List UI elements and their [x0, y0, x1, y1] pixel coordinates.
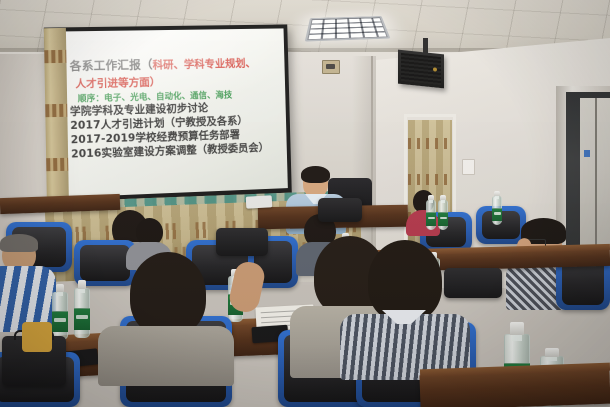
projection-screen: 各系工作汇报（科研、学科专业规划、 人才引进等方面） 顺序：电子、光电、自动化、…: [44, 24, 292, 203]
meeting-room-photo: 各系工作汇报（科研、学科专业规划、 人才引进等方面） 顺序：电子、光电、自动化、…: [0, 0, 610, 407]
smartphone-white[interactable]: [246, 195, 273, 208]
foreground-person-right: [348, 240, 464, 366]
slide-bullet-1-red: 科研、学科专业规划、: [153, 57, 256, 71]
yellow-bag: [22, 322, 52, 352]
laptop-bag: [318, 198, 362, 222]
person-head: [130, 252, 206, 336]
projection-screen-surface: 各系工作汇报（科研、学科专业规划、 人才引进等方面） 顺序：电子、光电、自动化、…: [48, 28, 288, 198]
light-switch-plate[interactable]: [462, 159, 475, 175]
person-head: [368, 240, 442, 322]
person-hair: [0, 234, 38, 252]
presenter-hair: [301, 166, 330, 183]
slide-bullet-1: 各系工作汇报（科研、学科专业规划、: [58, 52, 281, 75]
wall-mounted-box: [322, 60, 340, 74]
water-bottle: [52, 292, 68, 340]
person-torso: [98, 326, 234, 386]
foreground-person-left: [108, 252, 226, 372]
water-bottle: [438, 200, 448, 230]
water-bottle: [426, 200, 436, 230]
audience-person-striped: [0, 238, 56, 328]
slide-content: 各系工作汇报（科研、学科专业规划、 人才引进等方面） 顺序：电子、光电、自动化、…: [58, 52, 283, 164]
laptop-bag: [216, 228, 268, 256]
ceiling-light-icon: [305, 16, 391, 42]
slide-bullet-1-text: 各系工作汇报（: [69, 57, 152, 73]
water-bottle: [492, 196, 502, 225]
ceiling-speaker-icon: [398, 50, 444, 89]
water-bottle: [74, 288, 90, 338]
